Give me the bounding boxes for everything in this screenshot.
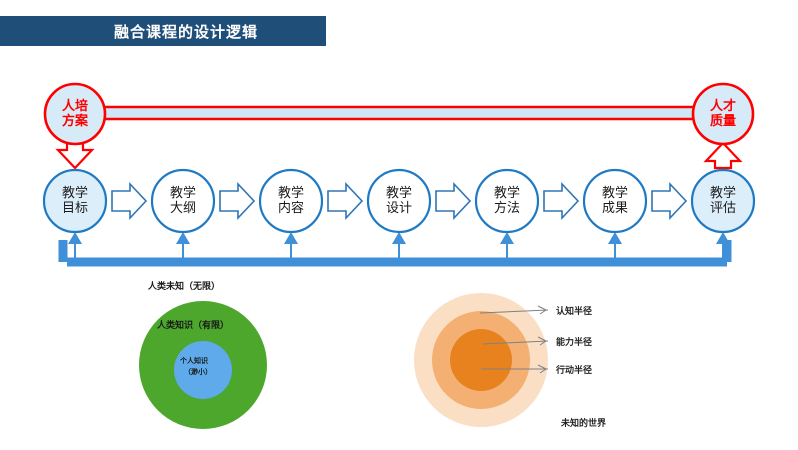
- plan-to-goal-arrow: [58, 143, 92, 168]
- capability-radius-label: 能力半径: [556, 335, 592, 348]
- node-teaching-evaluation-label: 教学 评估: [691, 186, 755, 216]
- node-plan-label: 人培 方案: [43, 99, 107, 129]
- unknown-world-label: 未知的世界: [561, 416, 606, 429]
- node-teaching-method-label: 教学 方法: [475, 186, 539, 216]
- feedback-bracket: [63, 232, 730, 272]
- slide-canvas: 融合课程的设计逻辑: [0, 0, 798, 450]
- node-teaching-goal-label: 教学 目标: [43, 186, 107, 216]
- personal-knowledge-label-line2: （渺小）: [184, 367, 212, 377]
- personal-knowledge-label-line1: 个人知识: [180, 356, 208, 366]
- feedback-arrow-top: [46, 100, 700, 126]
- node-teaching-content-label: 教学 内容: [259, 186, 323, 216]
- node-teaching-outline-label: 教学 大纲: [151, 186, 215, 216]
- node-teaching-result-label: 教学 成果: [583, 186, 647, 216]
- diagram-svg: [0, 0, 798, 450]
- human-unknown-label: 人类未知（无限）: [148, 279, 220, 292]
- evaluation-to-quality-arrow: [706, 143, 740, 168]
- human-knowledge-label: 人类知识（有限）: [157, 318, 229, 331]
- cognitive-radius-label: 认知半径: [556, 304, 592, 317]
- node-quality-label: 人才 质量: [691, 99, 755, 129]
- node-teaching-design-label: 教学 设计: [367, 186, 431, 216]
- action-radius-label: 行动半径: [556, 363, 592, 376]
